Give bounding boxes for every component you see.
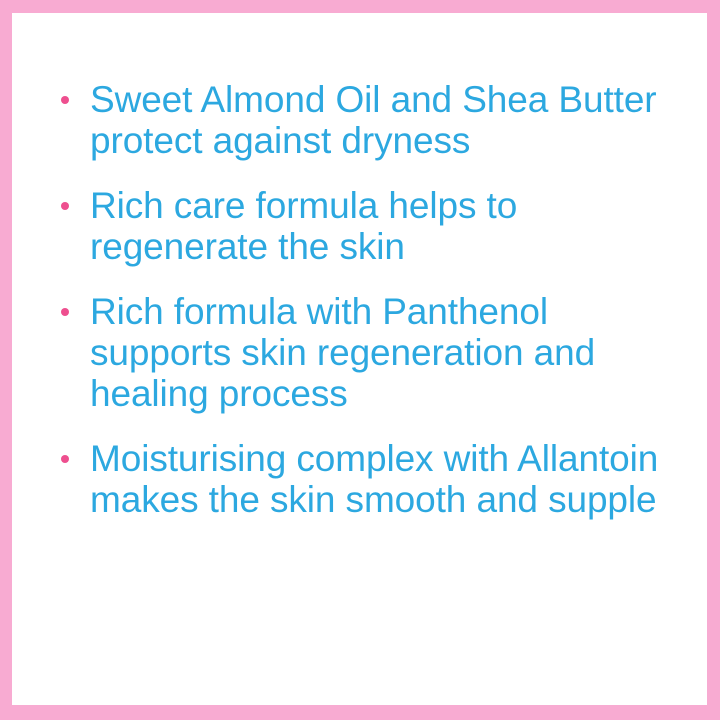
- list-item: Rich care formula helps to regenerate th…: [53, 185, 673, 267]
- benefit-text: Moisturising complex with Allantoin make…: [90, 438, 673, 520]
- product-benefits-card: Sweet Almond Oil and Shea Butter protect…: [0, 0, 720, 720]
- benefit-text: Sweet Almond Oil and Shea Butter protect…: [90, 79, 673, 161]
- bullet-dot-icon: [61, 308, 69, 316]
- list-item: Moisturising complex with Allantoin make…: [53, 438, 673, 520]
- bullet-dot-icon: [61, 455, 69, 463]
- list-item: Rich formula with Panthenol supports ski…: [53, 291, 673, 414]
- benefit-text: Rich care formula helps to regenerate th…: [90, 185, 673, 267]
- bullet-dot-icon: [61, 202, 69, 210]
- bullet-dot-icon: [61, 96, 69, 104]
- benefit-text: Rich formula with Panthenol supports ski…: [90, 291, 673, 414]
- list-item: Sweet Almond Oil and Shea Butter protect…: [53, 79, 673, 161]
- benefits-list: Sweet Almond Oil and Shea Butter protect…: [53, 79, 673, 520]
